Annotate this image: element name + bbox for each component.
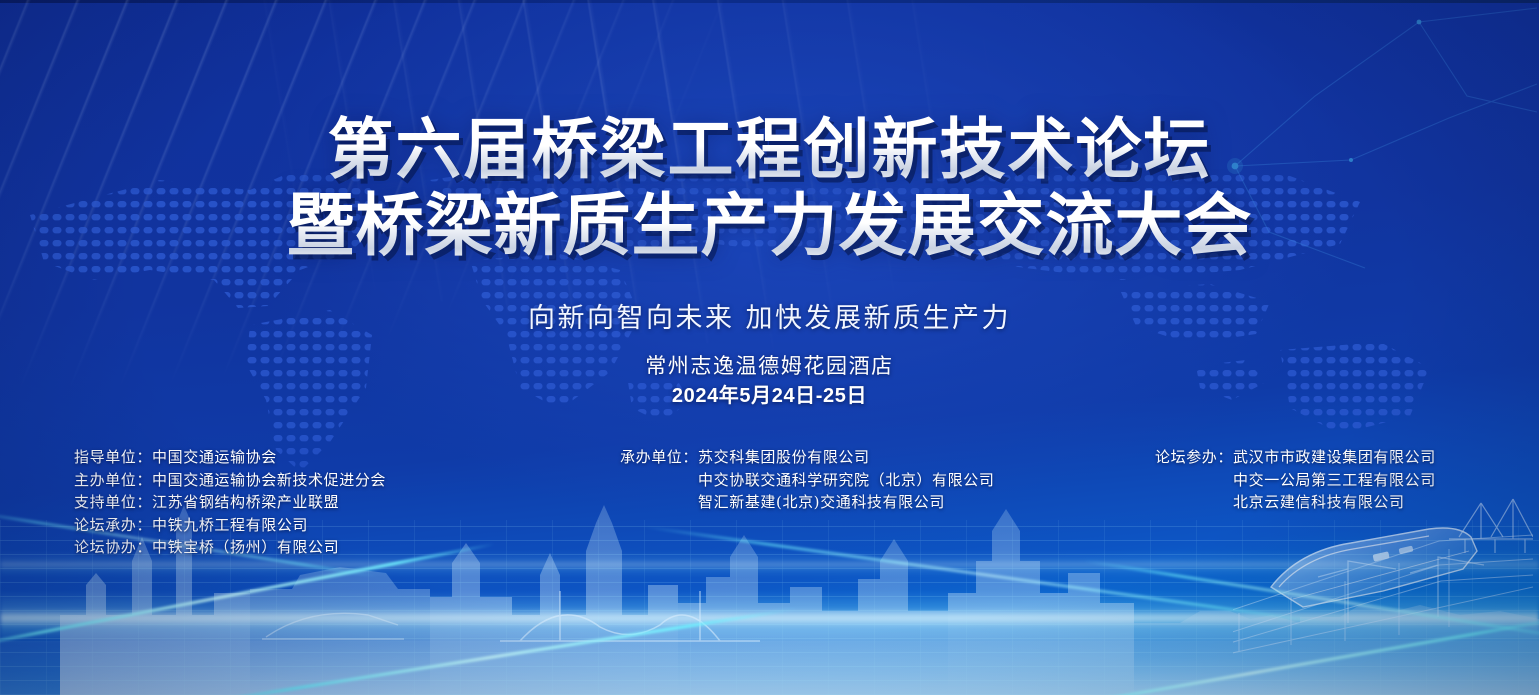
organization-row: 承办单位：苏交科集团股份有限公司 xyxy=(620,446,994,469)
organization-value: 武汉市市政建设集团有限公司 xyxy=(1233,446,1436,469)
organizations-block: 指导单位：中国交通运输协会 主办单位：中国交通运输协会新技术促进分会 支持单位：… xyxy=(0,446,1539,566)
conference-banner: 第六届桥梁工程创新技术论坛 暨桥梁新质生产力发展交流大会 向新向智向未来 加快发… xyxy=(0,0,1539,695)
organization-row: 论坛参办：北京云建信科技有限公司 xyxy=(1155,491,1436,514)
venue-block: 常州志逸温德姆花园酒店 2024年5月24日-25日 xyxy=(0,352,1539,410)
organization-row: 论坛参办：中交一公局第三工程有限公司 xyxy=(1155,469,1436,492)
organization-value: 中铁宝桥（扬州）有限公司 xyxy=(152,536,339,559)
organization-row: 主办单位：中国交通运输协会新技术促进分会 xyxy=(74,469,386,492)
organization-value: 中铁九桥工程有限公司 xyxy=(152,514,308,537)
banner-title-block: 第六届桥梁工程创新技术论坛 暨桥梁新质生产力发展交流大会 xyxy=(0,112,1539,266)
organization-row: 承办单位：中交协联交通科学研究院（北京）有限公司 xyxy=(620,469,994,492)
page-title-line-1: 第六届桥梁工程创新技术论坛 xyxy=(0,112,1539,186)
organizations-column-right: 论坛参办：武汉市市政建设集团有限公司 论坛参办：中交一公局第三工程有限公司 论坛… xyxy=(1155,446,1436,514)
organization-value: 中国交通运输协会新技术促进分会 xyxy=(152,469,386,492)
organization-value: 中国交通运输协会 xyxy=(152,446,277,469)
organization-row: 支持单位：江苏省钢结构桥梁产业联盟 xyxy=(74,491,386,514)
organization-row: 承办单位：智汇新基建(北京)交通科技有限公司 xyxy=(620,491,994,514)
page-title-line-2: 暨桥梁新质生产力发展交流大会 xyxy=(0,186,1539,266)
organization-value: 北京云建信科技有限公司 xyxy=(1233,491,1405,514)
organization-row: 指导单位：中国交通运输协会 xyxy=(74,446,386,469)
organization-label: 承办单位： xyxy=(620,446,698,469)
organization-label: 指导单位： xyxy=(74,446,152,469)
organization-row: 论坛承办：中铁九桥工程有限公司 xyxy=(74,514,386,537)
organization-value: 中交协联交通科学研究院（北京）有限公司 xyxy=(698,469,994,492)
organization-value: 江苏省钢结构桥梁产业联盟 xyxy=(152,491,339,514)
venue-name: 常州志逸温德姆花园酒店 xyxy=(645,354,894,378)
banner-content: 第六届桥梁工程创新技术论坛 暨桥梁新质生产力发展交流大会 向新向智向未来 加快发… xyxy=(0,0,1539,695)
banner-slogan: 向新向智向未来 加快发展新质生产力 xyxy=(0,296,1539,335)
organization-row: 论坛参办：武汉市市政建设集团有限公司 xyxy=(1155,446,1436,469)
organizations-column-left: 指导单位：中国交通运输协会 主办单位：中国交通运输协会新技术促进分会 支持单位：… xyxy=(74,446,386,559)
organizations-column-center: 承办单位：苏交科集团股份有限公司 承办单位：中交协联交通科学研究院（北京）有限公… xyxy=(620,446,994,514)
organization-label: 论坛参办： xyxy=(1155,446,1233,469)
organization-value: 苏交科集团股份有限公司 xyxy=(698,446,870,469)
organization-label: 论坛协办： xyxy=(74,536,152,559)
organization-row: 论坛协办：中铁宝桥（扬州）有限公司 xyxy=(74,536,386,559)
organization-label: 主办单位： xyxy=(74,469,152,492)
organization-label: 支持单位： xyxy=(74,491,152,514)
event-date: 2024年5月24日-25日 xyxy=(0,382,1539,410)
organization-value: 中交一公局第三工程有限公司 xyxy=(1233,469,1436,492)
organization-label: 论坛承办： xyxy=(74,514,152,537)
organization-value: 智汇新基建(北京)交通科技有限公司 xyxy=(698,491,945,514)
